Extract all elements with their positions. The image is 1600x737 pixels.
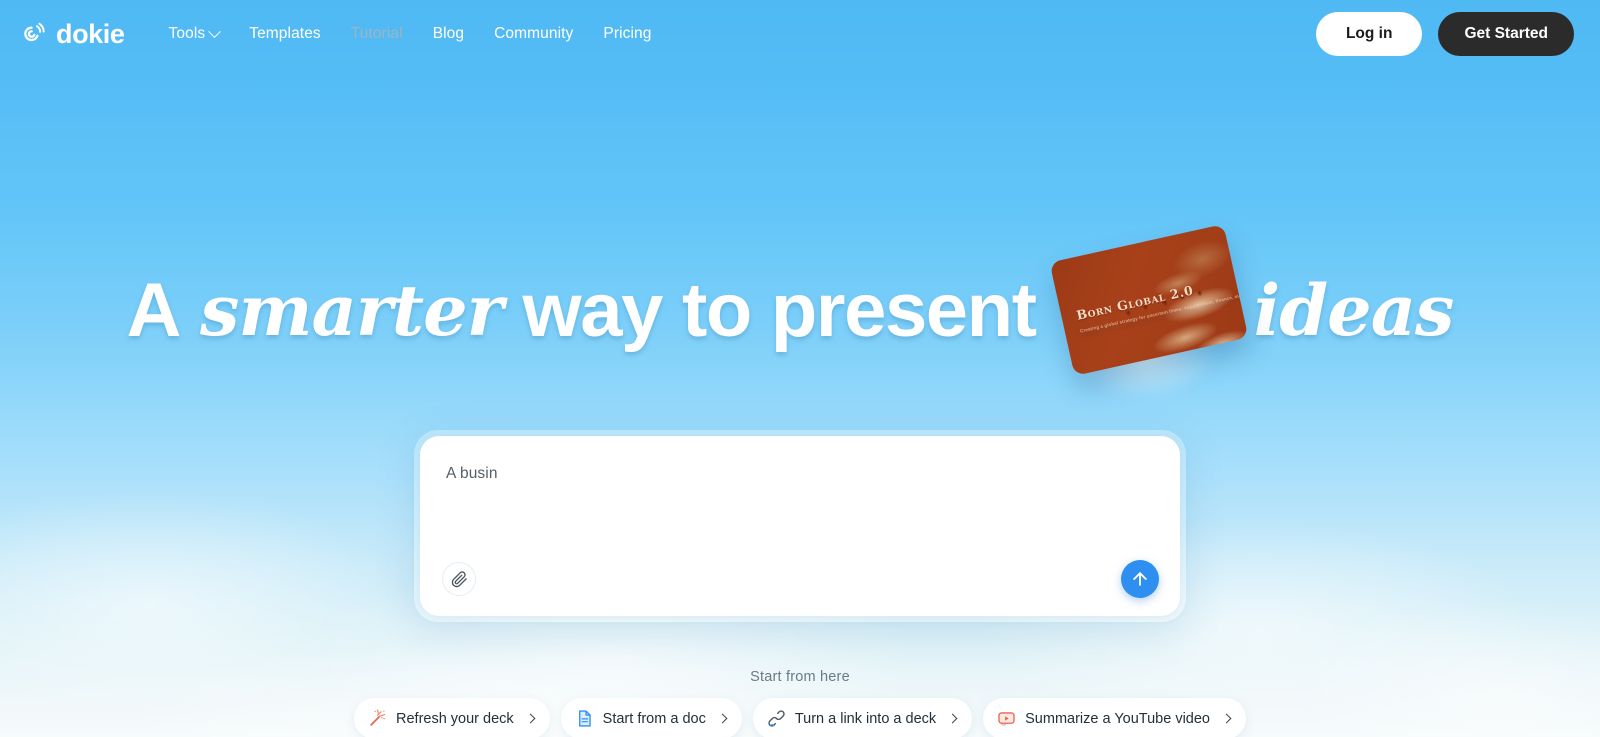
chip-refresh-your-deck[interactable]: Refresh your deck [354, 698, 550, 737]
chip-label: Turn a link into a deck [795, 711, 936, 727]
nav-actions: Log in Get Started [1316, 12, 1574, 56]
prompt-composer[interactable]: A busin [420, 436, 1180, 616]
headline-word-to: to [682, 273, 751, 349]
chevron-right-icon [525, 714, 535, 724]
headline-word-present: present [771, 273, 1036, 349]
quick-start-chips: Refresh your deck Start from a doc Turn … [0, 698, 1600, 737]
hero-slide-thumbnail: Born Global 2.0 Creating a global strate… [1060, 252, 1238, 370]
attach-file-button[interactable] [442, 562, 476, 596]
link-icon [767, 709, 786, 728]
paperclip-icon [451, 571, 468, 588]
chip-start-from-a-doc[interactable]: Start from a doc [561, 698, 742, 737]
chip-summarize-a-youtube-video[interactable]: Summarize a YouTube video [983, 698, 1246, 737]
headline-word-smarter: smarter [200, 276, 502, 346]
nav-item-tools[interactable]: Tools [169, 25, 220, 43]
youtube-play-icon [997, 709, 1016, 728]
nav-item-label: Blog [433, 25, 464, 43]
start-from-here-label: Start from here [0, 669, 1600, 685]
arrow-up-icon [1130, 569, 1150, 589]
magic-wand-icon [368, 709, 387, 728]
chevron-right-icon [1222, 714, 1232, 724]
nav-item-label: Pricing [603, 25, 651, 43]
send-prompt-button[interactable] [1121, 560, 1159, 598]
chip-label: Start from a doc [603, 711, 706, 727]
headline-word-ideas: ideas [1254, 276, 1454, 346]
chevron-right-icon [717, 714, 727, 724]
nav-item-label: Templates [249, 25, 321, 43]
headline-word-a: A [127, 273, 181, 349]
headline-word-way: way [522, 273, 661, 349]
nav-item-label: Tutorial [351, 25, 403, 43]
composer-outer-glow: A busin [414, 430, 1186, 622]
nav-links: Tools Templates Tutorial Blog Community … [169, 25, 652, 43]
nav-item-pricing[interactable]: Pricing [603, 25, 651, 43]
login-button[interactable]: Log in [1316, 12, 1423, 56]
nav-item-community[interactable]: Community [494, 25, 573, 43]
dokie-spiral-logo-icon [18, 19, 48, 49]
nav-item-templates[interactable]: Templates [249, 25, 321, 43]
hero-section: A smarter way to present Born Global 2.0… [0, 252, 1600, 370]
get-started-button[interactable]: Get Started [1438, 12, 1574, 56]
prompt-input[interactable]: A busin [446, 463, 1154, 485]
nav-item-label: Community [494, 25, 573, 43]
brand-logo[interactable]: dokie [18, 19, 125, 49]
document-icon [575, 709, 594, 728]
top-navigation-bar: dokie Tools Templates Tutorial Blog Comm… [0, 0, 1600, 68]
chevron-down-icon [208, 25, 221, 38]
brand-name: dokie [56, 21, 125, 48]
nav-item-blog[interactable]: Blog [433, 25, 464, 43]
nav-item-tutorial[interactable]: Tutorial [351, 25, 403, 43]
nav-item-label: Tools [169, 25, 206, 43]
chevron-right-icon [948, 714, 958, 724]
chip-label: Refresh your deck [396, 711, 514, 727]
chip-turn-a-link-into-a-deck[interactable]: Turn a link into a deck [753, 698, 972, 737]
chip-label: Summarize a YouTube video [1025, 711, 1210, 727]
page-title: A smarter way to present Born Global 2.0… [127, 252, 1474, 370]
